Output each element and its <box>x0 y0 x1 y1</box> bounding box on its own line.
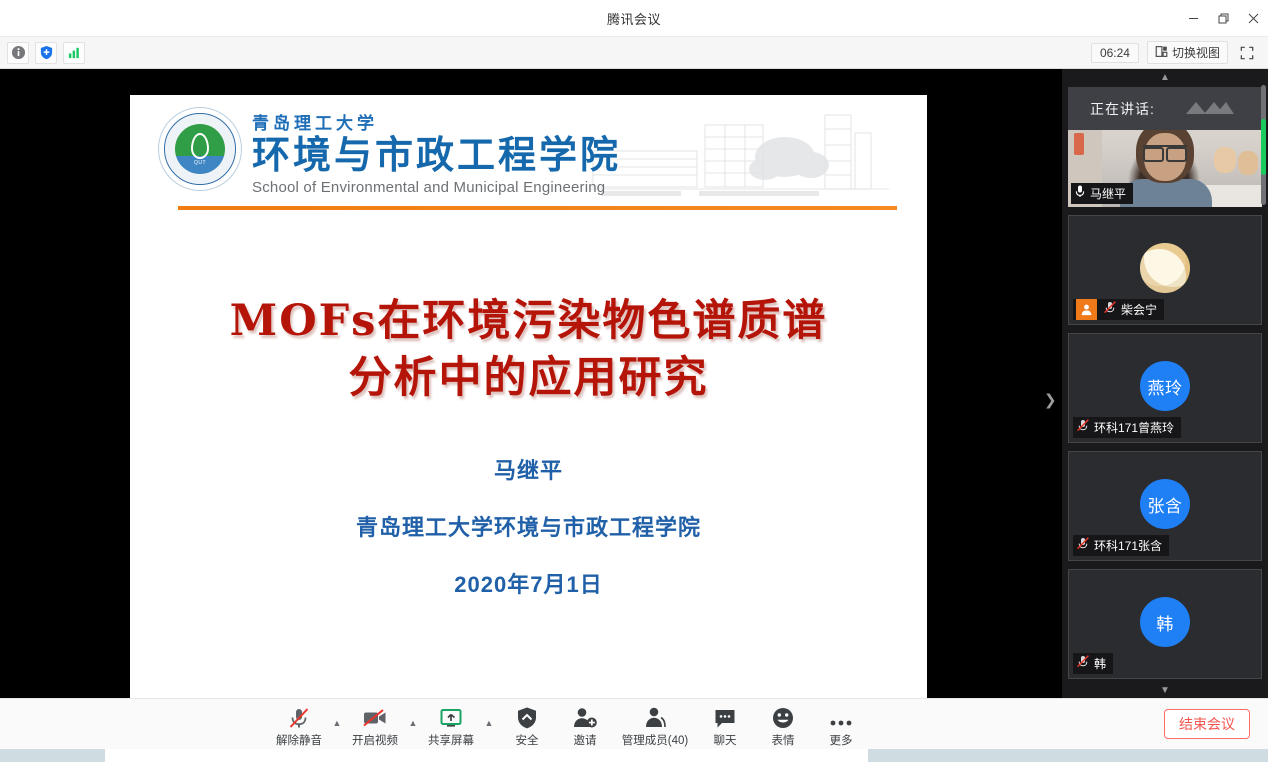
manage-members-label: 管理成员(40) <box>622 732 688 748</box>
participant-name: 韩 <box>1094 658 1106 670</box>
logo-emblem: QUT <box>175 124 225 174</box>
person-add-icon <box>572 704 598 730</box>
chat-icon <box>713 704 737 730</box>
video-person-glasses <box>1143 145 1187 156</box>
minimize-button[interactable] <box>1178 0 1208 36</box>
emoji-button[interactable]: 表情 <box>754 701 812 748</box>
slide-title-line-1: MOFs在环境污染物色谱质谱 <box>130 293 927 350</box>
logo-leaf-icon <box>191 133 209 159</box>
video-bg-decor-1 <box>1214 147 1236 173</box>
participant-tiles: 正在讲话: <box>1068 87 1262 687</box>
video-options-caret-icon[interactable]: ▲ <box>404 718 422 748</box>
speaking-label: 正在讲话: <box>1090 99 1155 119</box>
avatar: 韩 <box>1140 597 1190 647</box>
toolbar-items: 解除静音 ▲ 开启视频 ▲ <box>0 701 870 748</box>
participant-name-bar: 环科171张含 <box>1073 535 1169 556</box>
meeting-toolbar: 解除静音 ▲ 开启视频 ▲ <box>0 698 1268 749</box>
video-bg-object <box>1074 133 1084 155</box>
ellipsis-icon <box>828 704 854 730</box>
switch-view-label: 切换视图 <box>1172 47 1220 59</box>
fullscreen-button[interactable] <box>1236 42 1258 64</box>
speaking-indicator-bar: 正在讲话: <box>1068 87 1262 130</box>
university-logo: QUT <box>158 107 242 191</box>
participant-name-bar: 柴会宁 <box>1073 299 1164 320</box>
share-options-caret-icon[interactable]: ▲ <box>480 718 498 748</box>
mic-muted-icon <box>1103 300 1117 319</box>
mic-options-caret-icon[interactable]: ▲ <box>328 718 346 748</box>
smiley-icon <box>771 704 795 730</box>
participant-tile[interactable]: 正在讲话: <box>1068 87 1262 207</box>
mic-muted-icon <box>1076 418 1090 437</box>
host-badge-icon <box>1076 299 1097 320</box>
slide-affiliation: 青岛理工大学环境与市政工程学院 <box>130 510 927 542</box>
participant-name: 柴会宁 <box>1121 304 1157 316</box>
os-taskbar <box>0 749 1268 762</box>
meeting-window: 腾讯会议 <box>0 0 1268 762</box>
slide-title-line-2: 分析中的应用研究 <box>130 350 927 407</box>
meeting-info-bar: 06:24 切换视图 <box>0 36 1268 69</box>
info-icon[interactable] <box>7 42 29 64</box>
shield-add-icon[interactable] <box>35 42 57 64</box>
avatar <box>1140 243 1190 293</box>
chat-button[interactable]: 聊天 <box>696 701 754 748</box>
mic-icon <box>1074 184 1086 203</box>
more-button[interactable]: 更多 <box>812 701 870 748</box>
avatar: 燕玲 <box>1140 361 1190 411</box>
scrollbar-thumb[interactable] <box>1261 119 1266 175</box>
slide-title: MOFs在环境污染物色谱质谱 分析中的应用研究 <box>130 293 927 407</box>
chevron-right-icon[interactable]: ❯ <box>1044 393 1057 408</box>
meeting-bar-right: 06:24 切换视图 <box>1091 41 1268 64</box>
meeting-timer: 06:24 <box>1091 43 1139 63</box>
taskbar-segment[interactable] <box>105 749 868 762</box>
logo-caption: QUT <box>175 160 225 166</box>
security-label: 安全 <box>516 732 539 748</box>
participant-tile[interactable]: 韩 韩 <box>1068 569 1262 679</box>
shared-content-stage: QUT 青岛理工大学 环境与市政工程学院 School of Environme… <box>0 69 1062 698</box>
camera-off-icon <box>362 704 388 730</box>
window-title: 腾讯会议 <box>607 9 661 28</box>
close-button[interactable] <box>1238 0 1268 36</box>
avatar: 张含 <box>1140 479 1190 529</box>
security-button[interactable]: 安全 <box>498 701 556 748</box>
start-video-label: 开启视频 <box>352 732 398 748</box>
switch-view-icon <box>1155 45 1168 60</box>
share-screen-icon <box>438 704 464 730</box>
share-screen-label: 共享屏幕 <box>428 732 474 748</box>
scroll-down-icon[interactable]: ▼ <box>1062 682 1268 698</box>
participant-tile[interactable]: 柴会宁 <box>1068 215 1262 325</box>
slide-subtitle: 马继平 青岛理工大学环境与市政工程学院 2020年7月1日 <box>130 453 927 599</box>
app-watermark-icon <box>1182 98 1236 123</box>
meeting-info-icons <box>0 42 85 64</box>
participant-name: 马继平 <box>1090 188 1126 200</box>
slide-presenter: 马继平 <box>130 453 927 485</box>
mic-muted-icon <box>287 704 311 730</box>
presentation-slide: QUT 青岛理工大学 环境与市政工程学院 School of Environme… <box>130 95 927 698</box>
header-english: School of Environmental and Municipal En… <box>252 179 621 196</box>
signal-bars-icon[interactable] <box>63 42 85 64</box>
video-bg-decor-2 <box>1238 151 1258 175</box>
unmute-button[interactable]: 解除静音 <box>270 701 328 748</box>
slide-date: 2020年7月1日 <box>130 567 927 599</box>
slide-header-text: 青岛理工大学 环境与市政工程学院 School of Environmental… <box>252 109 621 196</box>
invite-label: 邀请 <box>574 732 597 748</box>
campus-building-illustration <box>579 103 899 203</box>
participant-panel: ▲ 正在讲话: <box>1062 69 1268 698</box>
end-meeting-button[interactable]: 结束会议 <box>1164 709 1250 739</box>
unmute-label: 解除静音 <box>276 732 322 748</box>
participant-name-bar: 马继平 <box>1071 183 1133 204</box>
start-video-button[interactable]: 开启视频 <box>346 701 404 748</box>
chat-label: 聊天 <box>714 732 737 748</box>
more-label: 更多 <box>830 732 853 748</box>
header-rule <box>178 206 897 210</box>
restore-button[interactable] <box>1208 0 1238 36</box>
manage-members-button[interactable]: 管理成员(40) <box>614 701 696 748</box>
share-screen-button[interactable]: 共享屏幕 <box>422 701 480 748</box>
window-title-bar: 腾讯会议 <box>0 0 1268 36</box>
window-controls <box>1178 0 1268 36</box>
scroll-up-icon[interactable]: ▲ <box>1062 69 1268 85</box>
video-person-body <box>1120 179 1212 207</box>
invite-button[interactable]: 邀请 <box>556 701 614 748</box>
participant-tile[interactable]: 燕玲 环科171曾燕玲 <box>1068 333 1262 443</box>
participant-name-bar: 环科171曾燕玲 <box>1073 417 1181 438</box>
shield-icon <box>515 704 539 730</box>
participant-name: 环科171张含 <box>1094 540 1162 552</box>
mic-muted-icon <box>1076 536 1090 555</box>
header-college: 环境与市政工程学院 <box>252 135 621 175</box>
mic-muted-icon <box>1076 654 1090 673</box>
participant-name: 环科171曾燕玲 <box>1094 422 1174 434</box>
slide-header: QUT 青岛理工大学 环境与市政工程学院 School of Environme… <box>130 95 927 215</box>
panel-scrollbar[interactable] <box>1261 85 1266 205</box>
emoji-label: 表情 <box>772 732 795 748</box>
people-icon <box>642 704 668 730</box>
switch-view-button[interactable]: 切换视图 <box>1147 41 1228 64</box>
header-university: 青岛理工大学 <box>252 109 621 134</box>
participant-name-bar: 韩 <box>1073 653 1113 674</box>
participant-tile[interactable]: 张含 环科171张含 <box>1068 451 1262 561</box>
